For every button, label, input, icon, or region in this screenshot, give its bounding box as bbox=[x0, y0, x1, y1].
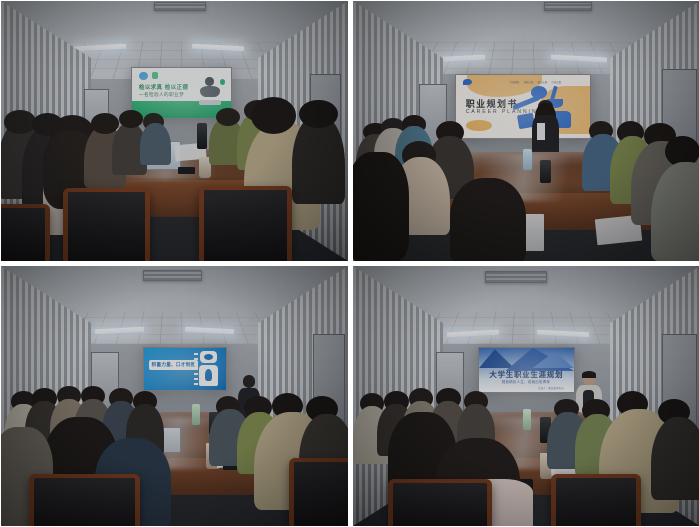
meeting-room-scene-tr: 生涯规划 自我认知 职业认知 行动方案 职业规划书 CAREER PLANNIN… bbox=[353, 1, 699, 261]
presenter-head-bl bbox=[243, 375, 256, 387]
ceiling-vent-icon-tl bbox=[154, 2, 206, 11]
presenter-badge-tr bbox=[537, 123, 545, 141]
slide-nav-item-2: 自我认知 bbox=[524, 80, 534, 84]
projector-screen-br: 大学生职业生涯规划 规划精彩人生，成就出彩青年 主讲人：职业指导中心 bbox=[478, 347, 575, 394]
slide-figure-tl bbox=[197, 77, 223, 105]
photo-top-left[interactable]: 检以求真 检以正德 一名检验人的职业梦 bbox=[1, 1, 348, 261]
slide-footer-br: 主讲人：职业指导中心 bbox=[538, 386, 564, 390]
bottle-tr bbox=[523, 149, 532, 170]
slide-logo-tl-2 bbox=[152, 72, 158, 79]
slide-nav-tr: 生涯规划 自我认知 职业认知 行动方案 bbox=[510, 80, 583, 84]
thermos-tl-2 bbox=[197, 123, 207, 149]
attendee-head-tl-9 bbox=[251, 97, 296, 133]
photo-bottom-right[interactable]: 大学生职业生涯规划 规划精彩人生，成就出彩青年 主讲人：职业指导中心 bbox=[353, 266, 699, 526]
slide-nav-item-3: 职业认知 bbox=[538, 80, 548, 84]
attendee-head-tl-1 bbox=[4, 110, 35, 133]
presenter-hair-br bbox=[582, 371, 596, 378]
chair-tl-2 bbox=[199, 186, 293, 261]
slide-subtitle-tl: 一名检验人的职业梦 bbox=[139, 92, 184, 98]
slide-badge-tr bbox=[466, 120, 493, 131]
slide-nav-item-4: 行动方案 bbox=[552, 80, 562, 84]
chair-tl-1 bbox=[63, 188, 150, 261]
phone-tl bbox=[178, 167, 195, 174]
attendee-br-11 bbox=[651, 417, 699, 500]
bottle-bl bbox=[192, 404, 200, 425]
slide-subtitle-br: 规划精彩人生，成就出彩青年 bbox=[502, 379, 551, 384]
slide-title-tl: 检以求真 检以正德 bbox=[139, 83, 188, 91]
chair-br-2 bbox=[551, 474, 641, 526]
slide-ladder-bl bbox=[194, 353, 198, 385]
photo-top-right[interactable]: 生涯规划 自我认知 职业认知 行动方案 职业规划书 CAREER PLANNIN… bbox=[353, 1, 699, 261]
slide-title-bl: 积蓄力量、口才制胜 bbox=[152, 362, 196, 368]
meeting-room-scene-tl: 检以求真 检以正德 一名检验人的职业梦 bbox=[1, 1, 348, 261]
slide-logo-tl bbox=[139, 72, 148, 80]
attendee-head-tl-7 bbox=[216, 108, 240, 126]
ceiling-vent-icon-tr bbox=[544, 2, 593, 11]
attendee-hair-tr-6 bbox=[353, 152, 409, 261]
photo-collage: 检以求真 检以正德 一名检验人的职业梦 bbox=[0, 0, 699, 527]
slide-mascot-bl bbox=[198, 351, 219, 386]
bottle-br bbox=[523, 409, 531, 430]
attendee-tl-10 bbox=[292, 115, 344, 203]
meeting-room-scene-br: 大学生职业生涯规划 规划精彩人生，成就出彩青年 主讲人：职业指导中心 bbox=[353, 266, 699, 526]
chair-tl-3 bbox=[1, 204, 50, 261]
ceiling-vent-icon-bl bbox=[143, 270, 202, 281]
projector-screen-tr: 生涯规划 自我认知 职业认知 行动方案 职业规划书 CAREER PLANNIN… bbox=[455, 74, 590, 139]
thermos-tr bbox=[540, 160, 550, 183]
attendee-tl-6 bbox=[140, 123, 171, 165]
ceiling-vent-icon-br bbox=[485, 271, 547, 283]
chair-bl-2 bbox=[289, 458, 348, 526]
attendee-head-tl-4 bbox=[91, 113, 119, 134]
projector-screen-bl: 积蓄力量、口才制胜 bbox=[143, 347, 226, 391]
attendee-hair-tr-7 bbox=[450, 178, 526, 261]
chair-br-1 bbox=[388, 479, 492, 526]
attendee-head-tl-10 bbox=[299, 100, 337, 129]
chair-bl-1 bbox=[29, 474, 140, 526]
photo-bottom-left[interactable]: 积蓄力量、口才制胜 bbox=[1, 266, 348, 526]
slide-nav-item-1: 生涯规划 bbox=[510, 80, 520, 84]
meeting-room-scene-bl: 积蓄力量、口才制胜 bbox=[1, 266, 348, 526]
